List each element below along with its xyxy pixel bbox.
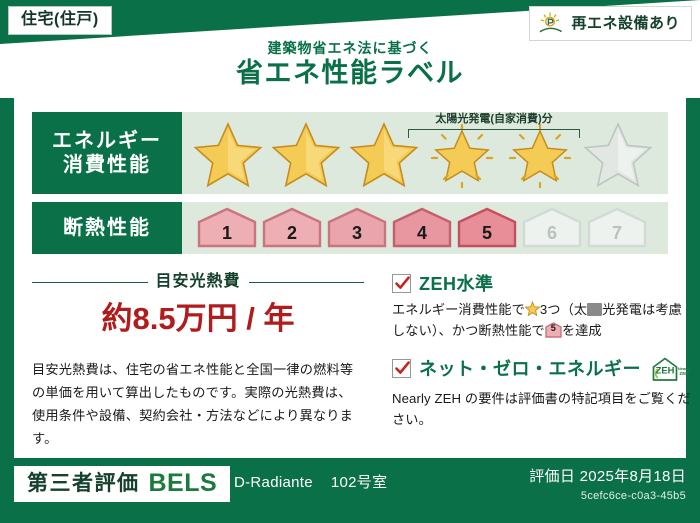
net-zero-checkbox [392, 359, 411, 378]
energy-label-line2: 消費性能 [63, 153, 151, 177]
energy-performance-label: エネルギー 消費性能 [32, 112, 182, 194]
insulation-grade-7-value: 7 [612, 224, 622, 249]
utility-cost-block: 目安光熱費 約8.5万円 / 年 目安光熱費は、住宅の省エネ性能と全国一律の燃料… [32, 274, 364, 450]
insulation-grades-panel: 1 2 3 4 5 [182, 202, 668, 254]
utility-cost-heading: 目安光熱費 [32, 274, 364, 290]
heading-rule-right [249, 282, 365, 283]
evaluation-date: 評価日 2025年8月18日 [529, 468, 686, 486]
title-block: 建築物省エネ法に基づく 省エネ性能ラベル [0, 41, 700, 89]
bels-certification-badge: 第三者評価 BELS [14, 466, 230, 502]
title-main: 省エネ性能ラベル [0, 58, 700, 89]
insulation-grade-scale: 1 2 3 4 5 [196, 207, 648, 249]
net-zero-description: Nearly ZEH の要件は評価書の特記項目をご覧ください。 [392, 388, 692, 431]
bels-jp-label: 第三者評価 [27, 473, 140, 494]
title-subtitle: 建築物省エネ法に基づく [0, 41, 700, 56]
net-zero-title: ネット・ゼロ・エネルギー [419, 360, 641, 378]
bels-en-label: BELS [149, 471, 218, 496]
net-zero-energy-item: ネット・ゼロ・エネルギー ZEH Nearly ZEH Nearly ZEH の… [392, 356, 692, 431]
star-6-empty [580, 117, 656, 189]
inline-house-grade-icon: 5 [545, 322, 562, 338]
utility-cost-heading-text: 目安光熱費 [156, 274, 241, 290]
energy-performance-row: エネルギー 消費性能 [32, 112, 668, 194]
star-rating [190, 117, 656, 189]
solar-badge-label: 再エネ設備あり [571, 16, 680, 31]
redacted-character [587, 303, 602, 316]
energy-label-line1: エネルギー [52, 129, 162, 153]
insulation-grade-4-value: 4 [417, 224, 427, 249]
insulation-grade-7: 7 [586, 207, 648, 249]
zeh-standard-title: ZEH水準 [419, 275, 494, 293]
zeh-desc-part-2: 3つ（太 [540, 302, 587, 317]
evaluation-info: 評価日 2025年8月18日 5cefc6ce-c0a3-45b5 [529, 468, 686, 503]
zeh-house-logo-icon: ZEH Nearly ZEH [649, 356, 693, 382]
insulation-label-text: 断熱性能 [63, 216, 151, 240]
star-4-solar [424, 117, 500, 189]
zeh-block: ZEH水準 エネルギー消費性能で3つ（太光発電は考慮しない）、かつ断熱性能で5を… [392, 274, 692, 445]
building-identity: D-Radiante102号室 [234, 475, 387, 490]
inline-house-grade-value: 5 [545, 324, 562, 333]
net-zero-title-row: ネット・ゼロ・エネルギー ZEH Nearly ZEH [392, 356, 692, 382]
zeh-standard-item: ZEH水準 エネルギー消費性能で3つ（太光発電は考慮しない）、かつ断熱性能で5を… [392, 274, 692, 342]
label-body-card: エネルギー 消費性能 [14, 98, 686, 458]
insulation-grade-2-value: 2 [287, 224, 297, 249]
energy-performance-label: 住宅(住戸) 再エネ設備あり 建築物省エネ法に基づく 省エネ性能ラベル [0, 0, 700, 523]
insulation-grade-3: 3 [326, 207, 388, 249]
svg-text:ZEH: ZEH [656, 364, 675, 375]
insulation-grade-5: 5 [456, 207, 518, 249]
star-1 [190, 117, 266, 189]
solar-equipment-badge: 再エネ設備あり [529, 6, 692, 41]
insulation-grade-4: 4 [391, 207, 453, 249]
sun-icon [538, 12, 564, 34]
insulation-grade-6-value: 6 [547, 224, 557, 249]
zeh-desc-part-1: エネルギー消費性能で [392, 302, 525, 317]
insulation-grade-1: 1 [196, 207, 258, 249]
energy-stars-panel: 太陽光発電(自家消費)分 [182, 112, 668, 194]
star-3 [346, 117, 422, 189]
inline-star-icon [525, 301, 540, 316]
zeh-standard-checkbox [392, 274, 411, 293]
building-type-tag: 住宅(住戸) [8, 6, 112, 35]
building-name: D-Radiante [234, 474, 313, 491]
zeh-desc-part-4: を達成 [562, 323, 602, 338]
insulation-grade-3-value: 3 [352, 224, 362, 249]
insulation-performance-label: 断熱性能 [32, 202, 182, 254]
insulation-grade-5-value: 5 [482, 224, 492, 249]
star-2 [268, 117, 344, 189]
utility-cost-amount: 約8.5万円 / 年 [32, 302, 364, 336]
heading-rule-left [32, 282, 148, 283]
room-number: 102号室 [331, 474, 388, 491]
utility-cost-note: 目安光熱費は、住宅の省エネ性能と全国一律の燃料等の単価を用いて算出したものです。… [32, 358, 364, 450]
zeh-standard-title-row: ZEH水準 [392, 274, 692, 293]
zeh-standard-description: エネルギー消費性能で3つ（太光発電は考慮しない）、かつ断熱性能で5を達成 [392, 299, 692, 342]
footer: 第三者評価 BELS D-Radiante102号室 評価日 2025年8月18… [0, 458, 700, 523]
svg-text:ZEH: ZEH [679, 371, 689, 376]
evaluation-id: 5cefc6ce-c0a3-45b5 [529, 490, 686, 503]
star-5-solar [502, 117, 578, 189]
insulation-grade-6: 6 [521, 207, 583, 249]
insulation-performance-row: 断熱性能 1 2 3 [32, 202, 668, 254]
insulation-grade-1-value: 1 [222, 224, 232, 249]
vertical-divider [370, 276, 371, 434]
insulation-grade-2: 2 [261, 207, 323, 249]
